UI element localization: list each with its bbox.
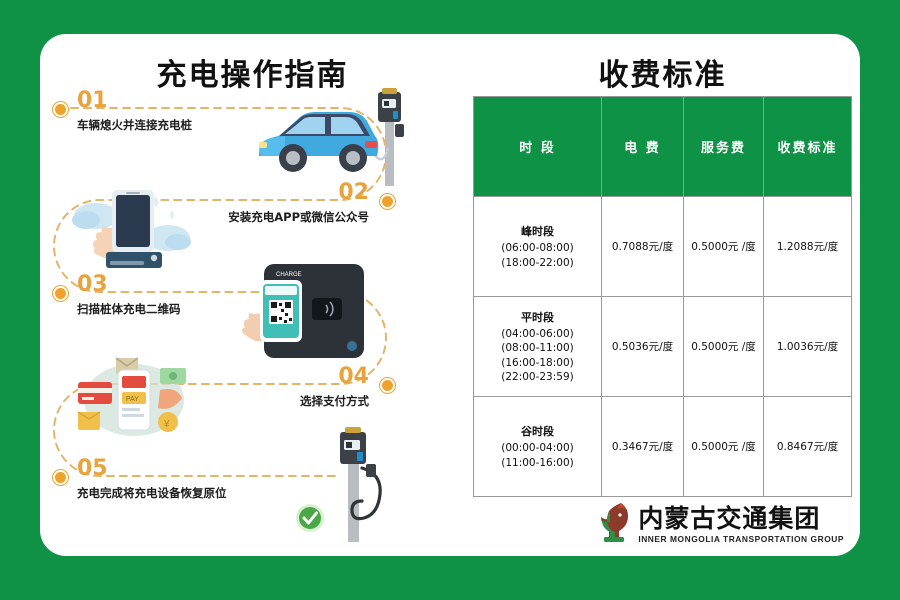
step-number: 01 [77,90,192,112]
period-range: (22:00-23:59) [476,370,599,384]
step-dot-03 [53,286,68,301]
step-label: 选择支付方式 [300,393,369,409]
page-title-right: 收费标准 [465,50,860,94]
charging-pole-done-illustration [290,422,430,544]
step-01: 01 车辆熄火并连接充电桩 [77,90,192,133]
step-dot-02 [380,194,395,209]
step-label: 扫描桩体充电二维码 [77,301,181,317]
period-range: (06:00-08:00) [476,241,599,255]
period-range: (04:00-06:00) [476,327,599,341]
step-label: 车辆熄火并连接充电桩 [77,117,192,133]
period-name: 谷时段 [476,423,599,439]
cell-total-fee: 1.0036元/度 [764,297,852,397]
step-02: 02 安装充电APP或微信公众号 [228,182,369,225]
svg-text:PAY: PAY [126,396,139,403]
poster-card: 充电操作指南 01 车辆熄火并连接充电桩 [40,34,860,556]
qr-scan-charger-illustration: CHARGE [240,262,380,362]
table-header-row: 时 段 电 费 服务费 收费标准 [474,97,852,197]
logo-name-en: INNER MONGOLIA TRANSPORTATION GROUP [638,534,844,544]
cell-service-fee: 0.5000元 /度 [684,397,764,497]
table-row: 峰时段 (06:00-08:00) (18:00-22:00) 0.7088元/… [474,197,852,297]
fee-standard-table: 时 段 电 费 服务费 收费标准 峰时段 (06:00-08:00) (18:0… [473,96,852,497]
step-05: 05 充电完成将充电设备恢复原位 [77,458,227,501]
period-range: (00:00-04:00) [476,441,599,455]
column-header-total-fee: 收费标准 [764,97,852,197]
poster-root: 充电操作指南 01 车辆熄火并连接充电桩 [0,0,900,600]
period-range: (18:00-22:00) [476,256,599,270]
hand-phone-cloud-illustration [66,176,196,276]
step-number: 02 [228,182,369,204]
cell-total-fee: 1.2088元/度 [764,197,852,297]
step-number: 03 [77,274,181,296]
logo-name-cn: 内蒙古交通集团 [638,506,844,531]
period-range: (11:00-16:00) [476,456,599,470]
car-charging-pole-illustration [245,86,425,191]
step-dot-05 [53,470,68,485]
cell-total-fee: 0.8467元/度 [764,397,852,497]
cell-service-fee: 0.5000元 /度 [684,197,764,297]
step-number: 05 [77,458,227,480]
svg-text:¥: ¥ [163,419,170,430]
charging-guide-panel: 充电操作指南 01 车辆熄火并连接充电桩 [40,34,465,556]
horse-head-icon [598,501,632,548]
step-dot-04 [380,378,395,393]
table-row: 谷时段 (00:00-04:00) (11:00-16:00) 0.3467元/… [474,397,852,497]
step-number: 04 [300,366,369,388]
column-header-service-fee: 服务费 [684,97,764,197]
period-range: (16:00-18:00) [476,356,599,370]
step-03: 03 扫描桩体充电二维码 [77,274,181,317]
svg-text:CHARGE: CHARGE [276,272,302,278]
column-header-electricity-fee: 电 费 [602,97,684,197]
step-04: 04 选择支付方式 [300,366,369,409]
table-row: 平时段 (04:00-06:00) (08:00-11:00) (16:00-1… [474,297,852,397]
cell-period: 谷时段 (00:00-04:00) (11:00-16:00) [474,397,602,497]
cell-service-fee: 0.5000元 /度 [684,297,764,397]
fee-standard-panel: 收费标准 时 段 电 费 服务费 收费标准 峰时段 [465,34,860,556]
column-header-period: 时 段 [474,97,602,197]
period-name: 平时段 [476,309,599,325]
step-label: 安装充电APP或微信公众号 [228,209,369,225]
period-range: (08:00-11:00) [476,341,599,355]
logo-text-block: 内蒙古交通集团 INNER MONGOLIA TRANSPORTATION GR… [638,506,844,544]
company-logo: 内蒙古交通集团 INNER MONGOLIA TRANSPORTATION GR… [598,501,844,548]
cell-electricity-fee: 0.5036元/度 [602,297,684,397]
cell-period: 峰时段 (06:00-08:00) (18:00-22:00) [474,197,602,297]
payment-methods-illustration: ¥ PAY [64,346,204,446]
cell-electricity-fee: 0.3467元/度 [602,397,684,497]
cell-electricity-fee: 0.7088元/度 [602,197,684,297]
step-dot-01 [53,102,68,117]
step-label: 充电完成将充电设备恢复原位 [77,485,227,501]
period-name: 峰时段 [476,223,599,239]
cell-period: 平时段 (04:00-06:00) (08:00-11:00) (16:00-1… [474,297,602,397]
